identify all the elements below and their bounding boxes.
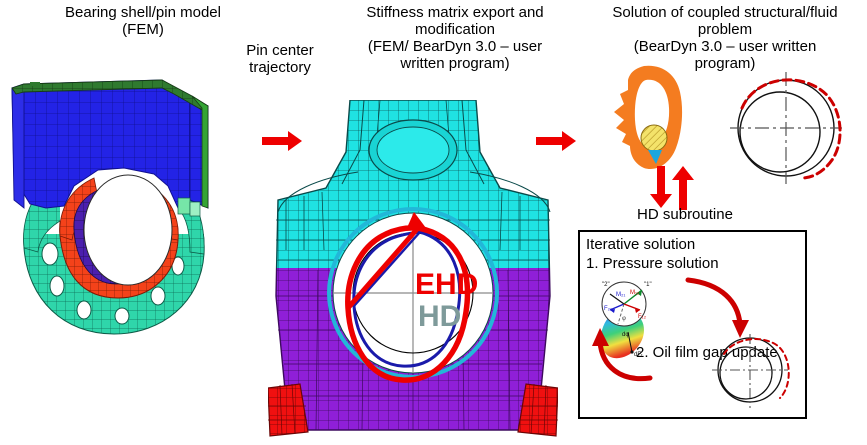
force-icon-label-dfr: dFᵣ <box>634 352 643 358</box>
pressure-distribution-icon: "2" "1" M₂₁ M₁₂ F₂₁ F₁₂ φ dφ dFᵣ <box>588 276 666 362</box>
caption-left-line2: (FEM) <box>18 21 268 38</box>
flow-arrow-up-from-hd-subroutine <box>672 166 694 210</box>
deformed-bore-diagram-icon <box>718 62 858 192</box>
panel-title-iterative-solution: Iterative solution <box>586 236 695 254</box>
caption-stiffness-matrix-export: Stiffness matrix export and modification… <box>330 4 580 72</box>
force-icon-label-f21: F₂₁ <box>604 306 612 312</box>
arrow-head <box>672 166 694 180</box>
caption-mid-line3: (FEM/ BearDyn 3.0 – user <box>330 38 580 55</box>
caption-mid-line1: Stiffness matrix export and <box>330 4 580 21</box>
force-icon-label-q1: "1" <box>644 282 652 288</box>
caption-left-fem-model: Bearing shell/pin model (FEM) <box>18 4 268 38</box>
fem-bearing-shell-model-icon <box>2 58 242 338</box>
force-icon-label-m21: M₂₁ <box>616 292 625 298</box>
flow-arrow-middle-to-right <box>536 130 580 152</box>
caption-left-line1: Bearing shell/pin model <box>18 4 268 21</box>
conrod-pin-silhouette-icon <box>600 62 710 180</box>
caption-right-line2: problem <box>583 21 867 38</box>
caption-mid-line2: modification <box>330 21 580 38</box>
arrow-shaft <box>536 137 564 145</box>
flow-arrow-down-to-hd-subroutine <box>650 166 672 210</box>
caption-pin-line1: Pin center <box>232 42 328 59</box>
trajectory-label-hd: HD <box>418 300 461 334</box>
trajectory-label-ehd: EHD <box>415 268 478 302</box>
panel-step-1-pressure-solution: 1. Pressure solution <box>586 255 719 273</box>
caption-mid-line4: written program) <box>330 55 580 72</box>
hd-subroutine-panel: Iterative solution 1. Pressure solution … <box>578 230 807 419</box>
caption-right-line3: (BearDyn 3.0 – user written <box>583 38 867 55</box>
caption-right-line1: Solution of coupled structural/fluid <box>583 4 867 21</box>
arrow-shaft <box>657 166 665 196</box>
force-icon-label-m12: M₁₂ <box>630 290 640 296</box>
force-icon-label-phi: φ <box>622 316 626 322</box>
force-icon-label-dphi: dφ <box>622 332 629 338</box>
force-icon-label-q2: "2" <box>602 282 610 288</box>
force-icon-label-f12: F₁₂ <box>638 314 647 320</box>
fem-conrod-big-end-model-icon <box>268 100 558 440</box>
label-hd-subroutine: HD subroutine <box>600 206 770 223</box>
oil-film-gap-icon <box>706 328 798 414</box>
caption-pin-center-trajectory: Pin center trajectory <box>232 42 328 76</box>
arrow-head <box>562 131 576 151</box>
caption-pin-line2: trajectory <box>232 59 328 76</box>
